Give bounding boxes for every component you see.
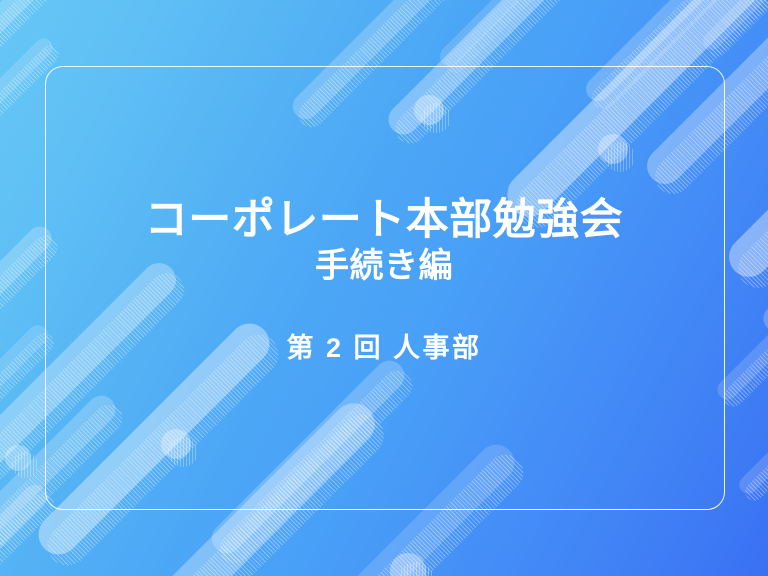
deco-circle-shadow xyxy=(398,562,434,576)
slide-title-main: コーポレート本部勉強会 xyxy=(0,196,768,244)
deco-hatch xyxy=(705,0,768,61)
deco-bar xyxy=(736,379,768,498)
slide-title-subtitle: 手続き編 xyxy=(0,246,768,286)
deco-circle-shadow xyxy=(12,452,38,478)
deco-circle xyxy=(390,553,426,576)
deco-hatch xyxy=(742,386,768,505)
title-text-block: コーポレート本部勉強会 手続き編 第 2 回 人事部 xyxy=(0,196,768,365)
deco-bar xyxy=(436,0,599,70)
deco-bar xyxy=(699,0,768,54)
slide-session-line: 第 2 回 人事部 xyxy=(0,326,768,365)
title-slide: コーポレート本部勉強会 手続き編 第 2 回 人事部 xyxy=(0,0,768,576)
deco-circle xyxy=(5,445,31,471)
